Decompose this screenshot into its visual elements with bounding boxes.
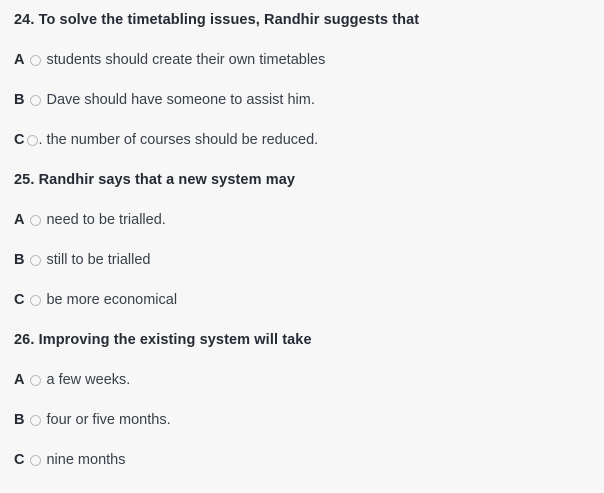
option-letter-25-a: A [14,200,24,240]
option-text-26-a: a few weeks. [46,360,130,400]
radio-25-a-icon[interactable] [30,215,41,226]
option-row-26-c[interactable]: C nine months [0,440,604,480]
option-text-25-c: be more economical [46,280,177,320]
option-text-25-a: need to be trialled. [46,200,165,240]
question-prompt-26: 26. Improving the existing system will t… [0,320,604,360]
option-letter-24-a: A [14,40,24,80]
option-row-26-b[interactable]: B four or five months. [0,400,604,440]
option-letter-25-b: B [14,240,24,280]
option-letter-24-c: C [14,120,24,160]
option-letter-26-c: C [14,440,24,480]
option-text-26-b: four or five months. [46,400,170,440]
question-block-24: 24. To solve the timetabling issues, Ran… [0,0,604,160]
option-text-24-a: students should create their own timetab… [46,40,325,80]
option-row-26-a[interactable]: A a few weeks. [0,360,604,400]
question-block-25: 25. Randhir says that a new system may A… [0,160,604,320]
radio-24-a-icon[interactable] [30,55,41,66]
option-text-26-c: nine months [46,440,125,480]
question-prompt-24: 24. To solve the timetabling issues, Ran… [0,0,604,40]
option-row-25-c[interactable]: C be more economical [0,280,604,320]
option-text-24-c: . the number of courses should be reduce… [38,120,318,160]
option-letter-25-c: C [14,280,24,320]
option-letter-24-b: B [14,80,24,120]
option-row-25-b[interactable]: B still to be trialled [0,240,604,280]
option-text-25-b: still to be trialled [46,240,150,280]
radio-25-b-icon[interactable] [30,255,41,266]
radio-24-c-icon[interactable] [27,135,38,146]
option-row-24-c[interactable]: C . the number of courses should be redu… [0,120,604,160]
quiz-questions-panel: 24. To solve the timetabling issues, Ran… [0,0,604,493]
radio-26-b-icon[interactable] [30,415,41,426]
radio-26-c-icon[interactable] [30,455,41,466]
option-letter-26-a: A [14,360,24,400]
option-row-25-a[interactable]: A need to be trialled. [0,200,604,240]
question-block-26: 26. Improving the existing system will t… [0,320,604,480]
question-prompt-25: 25. Randhir says that a new system may [0,160,604,200]
radio-24-b-icon[interactable] [30,95,41,106]
radio-25-c-icon[interactable] [30,295,41,306]
radio-26-a-icon[interactable] [30,375,41,386]
option-letter-26-b: B [14,400,24,440]
option-row-24-b[interactable]: B Dave should have someone to assist him… [0,80,604,120]
option-row-24-a[interactable]: A students should create their own timet… [0,40,604,80]
option-text-24-b: Dave should have someone to assist him. [46,80,314,120]
